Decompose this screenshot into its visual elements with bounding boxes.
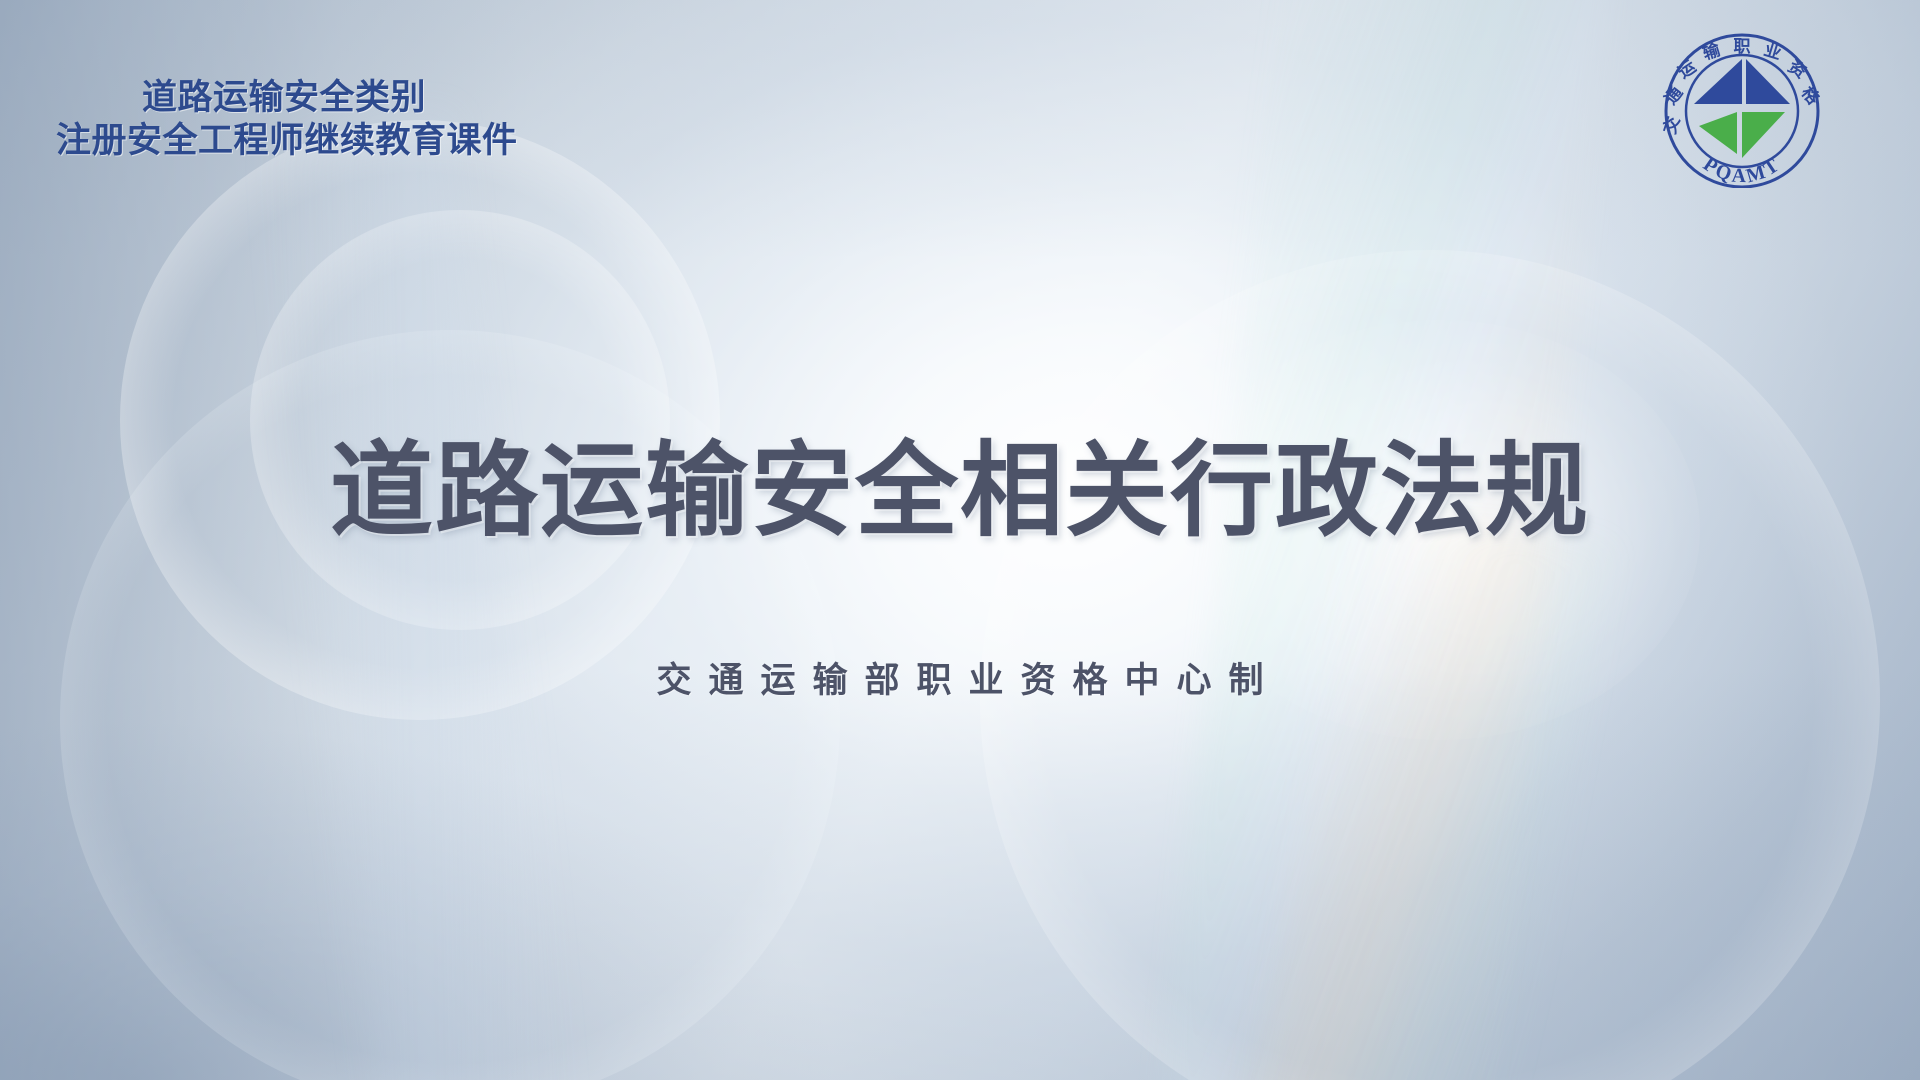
svg-text:格: 格 bbox=[1798, 82, 1825, 108]
header-line-courseware: 注册安全工程师继续教育课件 bbox=[56, 119, 518, 162]
svg-text:职: 职 bbox=[1734, 37, 1751, 56]
presentation-title-slide: 道路运输安全类别 注册安全工程师继续教育课件 道路运输安全相关行政法规 交通运输… bbox=[0, 0, 1920, 1080]
pqamt-emblem-logo: 交 通 运 输 职 业 资 格 PQAMT bbox=[1649, 26, 1835, 188]
subtitle-producer: 交通运输部职业资格中心制 bbox=[0, 658, 1920, 704]
header-text-block: 道路运输安全类别 注册安全工程师继续教育课件 bbox=[56, 76, 518, 162]
header-line-category: 道路运输安全类别 bbox=[56, 76, 518, 119]
logo-geometric-mark bbox=[1694, 57, 1790, 161]
page-title: 道路运输安全相关行政法规 bbox=[0, 432, 1920, 550]
slide-background-bottom-shade bbox=[0, 660, 1100, 1080]
svg-text:交: 交 bbox=[1659, 114, 1683, 136]
svg-text:通: 通 bbox=[1661, 83, 1686, 108]
